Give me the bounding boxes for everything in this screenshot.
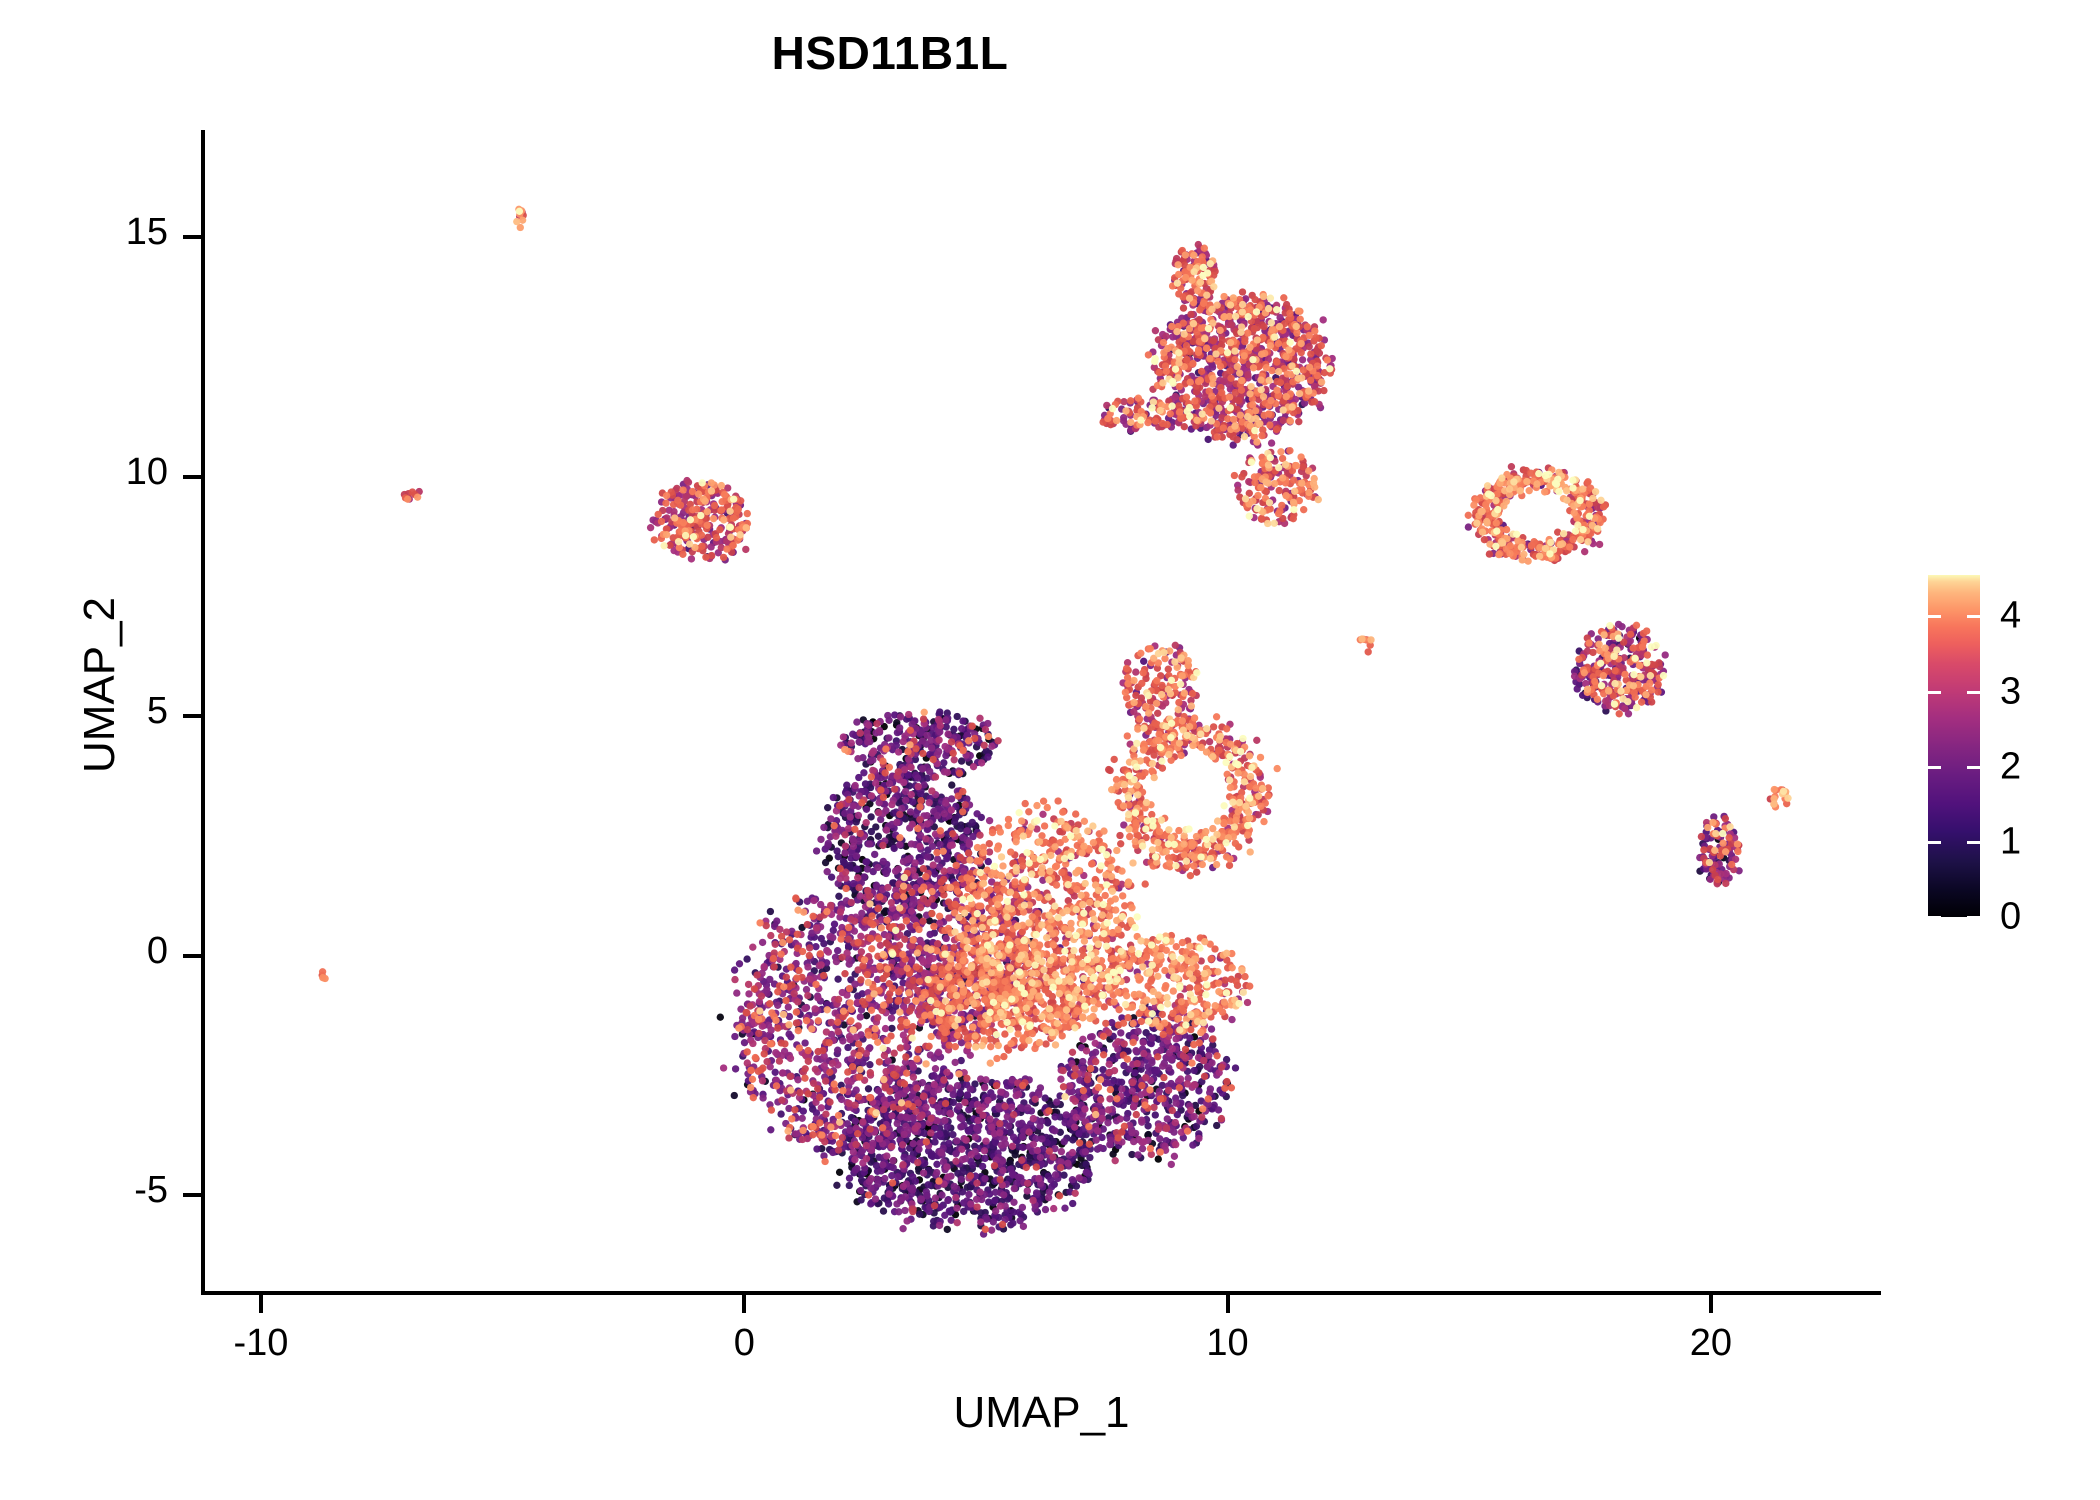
data-point: [926, 799, 933, 806]
data-point: [943, 935, 950, 942]
data-point: [832, 833, 839, 840]
data-point: [834, 976, 841, 983]
data-point: [933, 1169, 940, 1176]
data-point: [812, 943, 819, 950]
data-point: [919, 765, 926, 772]
data-point: [1168, 1161, 1175, 1168]
data-point: [1012, 1151, 1019, 1158]
data-point: [1132, 1047, 1139, 1054]
data-point: [835, 893, 842, 900]
data-point: [830, 794, 837, 801]
data-point: [944, 1197, 951, 1204]
data-point: [991, 1197, 998, 1204]
data-point: [1036, 1123, 1043, 1130]
data-point: [874, 1180, 881, 1187]
data-point: [817, 836, 824, 843]
data-point: [1009, 1143, 1016, 1150]
data-point: [944, 730, 951, 737]
data-point: [885, 734, 892, 741]
data-point: [1156, 1135, 1163, 1142]
data-point: [1123, 1115, 1130, 1122]
data-point: [821, 1062, 828, 1069]
data-point: [742, 546, 749, 553]
data-point: [1134, 1028, 1141, 1035]
data-point: [1025, 1128, 1032, 1135]
data-point: [846, 1127, 853, 1134]
data-point: [1017, 1104, 1024, 1111]
data-point: [959, 717, 966, 724]
data-point: [965, 1191, 972, 1198]
data-point: [791, 990, 798, 997]
data-point: [867, 757, 874, 764]
data-point: [937, 722, 944, 729]
data-point: [804, 992, 811, 999]
data-point: [1058, 1148, 1065, 1155]
data-point: [749, 944, 756, 951]
data-point: [981, 1084, 988, 1091]
data-point: [1030, 1141, 1037, 1148]
data-point: [868, 792, 875, 799]
data-point: [941, 1117, 948, 1124]
data-point: [982, 726, 989, 733]
data-point: [837, 908, 844, 915]
data-point: [902, 797, 909, 804]
data-point: [670, 508, 677, 515]
data-point: [849, 802, 856, 809]
data-point: [843, 991, 850, 998]
data-point: [950, 726, 957, 733]
data-point: [1089, 1033, 1096, 1040]
data-point: [889, 1157, 896, 1164]
data-point: [1105, 1106, 1112, 1113]
data-point: [942, 799, 949, 806]
data-point: [932, 1194, 939, 1201]
data-point: [888, 1025, 895, 1032]
data-point: [862, 780, 869, 787]
data-point: [848, 739, 855, 746]
data-point: [920, 959, 927, 966]
data-point: [834, 1047, 841, 1054]
data-point: [1159, 1063, 1166, 1070]
data-point: [733, 989, 740, 996]
data-point: [772, 1069, 779, 1076]
data-point: [867, 1184, 874, 1191]
data-point: [916, 1140, 923, 1147]
data-point: [804, 963, 811, 970]
data-point: [1066, 1082, 1073, 1089]
data-point: [1245, 478, 1252, 485]
data-point: [963, 827, 970, 834]
page-title: HSD11B1L: [0, 26, 1780, 80]
data-point: [906, 1155, 913, 1162]
data-point: [1148, 1035, 1155, 1042]
data-point: [820, 824, 827, 831]
x-axis-line: [201, 1291, 1881, 1295]
data-point: [1051, 1113, 1058, 1120]
data-point: [1172, 1119, 1179, 1126]
data-point: [1191, 1113, 1198, 1120]
data-point: [857, 1187, 864, 1194]
data-point: [866, 840, 873, 847]
data-point: [946, 1110, 953, 1117]
data-point: [863, 806, 870, 813]
data-point: [810, 897, 817, 904]
data-point: [876, 727, 883, 734]
data-point: [956, 1089, 963, 1096]
data-point: [1168, 1056, 1175, 1063]
data-point: [828, 1019, 835, 1026]
data-point: [1118, 1085, 1125, 1092]
data-point: [972, 1134, 979, 1141]
data-point: [895, 865, 902, 872]
data-point: [981, 1175, 988, 1182]
data-point: [938, 1191, 945, 1198]
data-point: [869, 767, 876, 774]
data-point: [840, 733, 847, 740]
data-point: [1029, 1197, 1036, 1204]
data-point: [1045, 1194, 1052, 1201]
data-point: [944, 769, 951, 776]
data-point: [911, 859, 918, 866]
data-point: [952, 1194, 959, 1201]
data-point: [880, 1106, 887, 1113]
data-point: [1024, 1104, 1031, 1111]
data-point: [925, 1181, 932, 1188]
data-point: [875, 809, 882, 816]
data-point: [936, 708, 943, 715]
data-point: [1069, 1149, 1076, 1156]
data-point: [1008, 1104, 1015, 1111]
data-point: [857, 1196, 864, 1203]
data-point: [936, 1222, 943, 1229]
data-point: [874, 864, 881, 871]
data-point: [1142, 1074, 1149, 1081]
data-point: [759, 939, 766, 946]
data-point: [846, 1182, 853, 1189]
data-point: [997, 1202, 1004, 1209]
data-point: [1172, 1100, 1179, 1107]
data-point: [946, 1084, 953, 1091]
data-point: [1015, 1120, 1022, 1127]
data-point: [853, 1086, 860, 1093]
data-point: [824, 804, 831, 811]
data-point: [957, 1114, 964, 1121]
data-point: [885, 1190, 892, 1197]
data-point: [948, 781, 955, 788]
data-point: [872, 779, 879, 786]
data-point: [1116, 1115, 1123, 1122]
data-point: [846, 1033, 853, 1040]
data-point: [920, 1169, 927, 1176]
data-point: [957, 1123, 964, 1130]
data-point: [836, 1169, 843, 1176]
data-point: [794, 1076, 801, 1083]
data-point: [931, 1081, 938, 1088]
data-point: [863, 1012, 870, 1019]
data-point: [1072, 1098, 1079, 1105]
data-point: [900, 738, 907, 745]
data-point: [895, 1208, 902, 1215]
data-point: [930, 861, 937, 868]
data-point: [806, 975, 813, 982]
data-point: [1140, 658, 1147, 665]
data-point: [867, 813, 874, 820]
scatter-plot-area: [203, 132, 1880, 1291]
data-point: [1082, 1148, 1089, 1155]
data-point: [1069, 1200, 1076, 1207]
data-point: [909, 798, 916, 805]
data-point: [1164, 1115, 1171, 1122]
data-point: [952, 1158, 959, 1165]
data-point: [1115, 1078, 1122, 1085]
data-point: [759, 1077, 766, 1084]
data-point: [1019, 1144, 1026, 1151]
data-point: [772, 1049, 779, 1056]
data-point: [945, 914, 952, 921]
data-point: [1096, 1144, 1103, 1151]
data-point: [916, 1211, 923, 1218]
data-point: [860, 769, 867, 776]
data-point: [922, 1104, 929, 1111]
data-point: [777, 1110, 784, 1117]
data-point: [1179, 1092, 1186, 1099]
data-point: [897, 713, 904, 720]
data-point: [897, 1197, 904, 1204]
data-point: [997, 1088, 1004, 1095]
data-point: [976, 1189, 983, 1196]
data-point: [1057, 1076, 1064, 1083]
data-point: [932, 1065, 939, 1072]
data-point: [854, 874, 861, 881]
data-point: [857, 730, 864, 737]
data-point: [1117, 1029, 1124, 1036]
data-point: [1042, 1206, 1049, 1213]
data-point: [893, 819, 900, 826]
data-point: [833, 1182, 840, 1189]
data-point: [1574, 685, 1581, 692]
data-point: [868, 749, 875, 756]
data-point: [736, 960, 743, 967]
data-point: [943, 1123, 950, 1130]
data-point: [865, 722, 872, 729]
data-point: [935, 736, 942, 743]
data-point: [1155, 1155, 1162, 1162]
data-point: [732, 1065, 739, 1072]
data-point: [1061, 1205, 1068, 1212]
data-point: [885, 933, 892, 940]
data-point: [761, 963, 768, 970]
data-point: [1169, 1045, 1176, 1052]
data-point: [951, 818, 958, 825]
data-point: [879, 1161, 886, 1168]
data-point: [998, 1141, 1005, 1148]
data-point: [1139, 1145, 1146, 1152]
data-point: [1015, 1091, 1022, 1098]
data-point: [886, 780, 893, 787]
data-point: [884, 884, 891, 891]
data-point: [880, 1207, 887, 1214]
data-point: [749, 1040, 756, 1047]
data-point: [1132, 668, 1139, 675]
data-point: [731, 966, 738, 973]
data-point: [982, 1076, 989, 1083]
data-point: [813, 847, 820, 854]
data-point: [854, 755, 861, 762]
data-point: [745, 990, 752, 997]
data-point: [907, 764, 914, 771]
data-point: [988, 1124, 995, 1131]
data-point: [884, 712, 891, 719]
data-point: [707, 543, 714, 550]
data-point: [1232, 1064, 1239, 1071]
data-point: [883, 1152, 890, 1159]
data-point: [934, 855, 941, 862]
data-point: [951, 756, 958, 763]
data-point: [949, 1131, 956, 1138]
data-point: [945, 1140, 952, 1147]
data-point: [829, 1060, 836, 1067]
data-point: [1180, 1052, 1187, 1059]
data-point: [779, 1069, 786, 1076]
data-point: [908, 956, 915, 963]
data-point: [731, 976, 738, 983]
data-point: [1268, 439, 1275, 446]
data-point: [801, 1005, 808, 1012]
data-point: [984, 1097, 991, 1104]
data-point: [864, 865, 871, 872]
data-point: [848, 899, 855, 906]
data-point: [841, 831, 848, 838]
data-point: [918, 1196, 925, 1203]
data-point: [1079, 1036, 1086, 1043]
data-point: [888, 801, 895, 808]
data-point: [1140, 1039, 1147, 1046]
data-point: [823, 1028, 830, 1035]
data-point: [903, 1217, 910, 1224]
data-point: [899, 1141, 906, 1148]
data-point: [1157, 1047, 1164, 1054]
data-point: [799, 1136, 806, 1143]
data-point: [885, 1200, 892, 1207]
scatter-points-layer: [203, 132, 1880, 1291]
data-point: [901, 1207, 908, 1214]
data-point: [903, 1114, 910, 1121]
data-point: [855, 738, 862, 745]
data-point: [812, 1066, 819, 1073]
data-point: [1187, 1107, 1194, 1114]
data-point: [893, 913, 900, 920]
data-point: [958, 725, 965, 732]
data-point: [1615, 621, 1622, 628]
data-point: [1129, 1079, 1136, 1086]
data-point: [745, 981, 752, 988]
data-point: [915, 783, 922, 790]
data-point: [767, 1126, 774, 1133]
data-point: [965, 1128, 972, 1135]
data-point: [792, 1130, 799, 1137]
data-point: [1205, 436, 1212, 443]
data-point: [1206, 1089, 1213, 1096]
data-point: [1052, 1171, 1059, 1178]
data-point: [1191, 1067, 1198, 1074]
data-point: [1051, 1127, 1058, 1134]
data-point: [944, 1173, 951, 1180]
data-point: [858, 948, 865, 955]
data-point: [963, 1136, 970, 1143]
data-point: [1050, 1205, 1057, 1212]
data-point: [834, 947, 841, 954]
data-point: [935, 1049, 942, 1056]
data-point: [967, 1085, 974, 1092]
data-point: [1083, 1169, 1090, 1176]
data-point: [1015, 1174, 1022, 1181]
data-point: [688, 555, 695, 562]
data-point: [741, 1039, 748, 1046]
data-point: [909, 901, 916, 908]
data-point: [767, 932, 774, 939]
data-point: [1080, 1094, 1087, 1101]
data-point: [896, 724, 903, 731]
data-point: [872, 1195, 879, 1202]
data-point: [952, 1150, 959, 1157]
data-point: [1037, 1084, 1044, 1091]
data-point: [988, 1227, 995, 1234]
data-point: [914, 774, 921, 781]
data-point: [912, 1125, 919, 1132]
data-point: [818, 935, 825, 942]
data-point: [899, 1225, 906, 1232]
data-point: [941, 743, 948, 750]
data-point: [927, 1115, 934, 1122]
data-point: [996, 1129, 1003, 1136]
data-point: [954, 1082, 961, 1089]
data-point: [986, 1115, 993, 1122]
data-point: [888, 1112, 895, 1119]
data-point: [922, 835, 929, 842]
data-point: [918, 1111, 925, 1118]
data-point: [999, 1167, 1006, 1174]
data-point: [924, 853, 931, 860]
data-point: [850, 1148, 857, 1155]
data-point: [1152, 1111, 1159, 1118]
data-point: [1138, 1117, 1145, 1124]
data-point: [888, 1143, 895, 1150]
data-point: [953, 1205, 960, 1212]
data-point: [908, 791, 915, 798]
data-point: [1155, 1126, 1162, 1133]
data-point: [959, 1156, 966, 1163]
data-point: [774, 1002, 781, 1009]
data-point: [959, 1168, 966, 1175]
data-point: [1069, 1176, 1076, 1183]
data-point: [967, 1200, 974, 1207]
data-point: [831, 921, 838, 928]
data-point: [1076, 1174, 1083, 1181]
data-point: [1075, 1130, 1082, 1137]
data-point: [1172, 1035, 1179, 1042]
data-point: [813, 924, 820, 931]
data-point: [835, 1028, 842, 1035]
data-point: [794, 998, 801, 1005]
data-point: [859, 1118, 866, 1125]
data-point: [1148, 1059, 1155, 1066]
data-point: [1208, 1025, 1215, 1032]
data-point: [863, 1155, 870, 1162]
data-point: [1195, 1135, 1202, 1142]
data-point: [976, 715, 983, 722]
data-point: [1596, 541, 1603, 548]
data-point: [943, 1069, 950, 1076]
